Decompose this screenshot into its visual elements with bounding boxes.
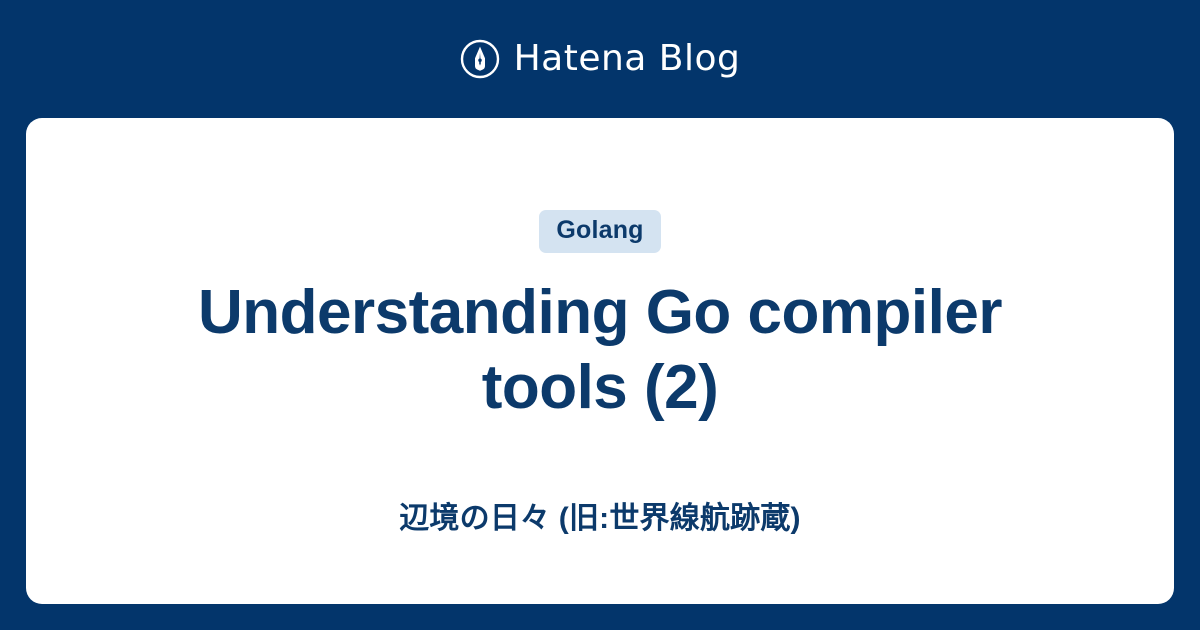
entry-card: Golang Understanding Go compiler tools (… xyxy=(26,118,1174,604)
entry-card-content: Golang Understanding Go compiler tools (… xyxy=(26,118,1174,604)
entry-title[interactable]: Understanding Go compiler tools (2) xyxy=(195,275,1005,425)
ogp-card-canvas: Hatena Blog Golang Understanding Go comp… xyxy=(0,0,1200,630)
brand-name-text: Hatena Blog xyxy=(514,41,741,77)
brand-header: Hatena Blog xyxy=(0,0,1200,118)
pen-nib-in-circle-icon xyxy=(460,39,500,79)
category-badge[interactable]: Golang xyxy=(539,210,660,253)
hatena-blog-logo[interactable]: Hatena Blog xyxy=(460,36,741,82)
blog-name[interactable]: 辺境の日々 (旧:世界線航跡蔵) xyxy=(399,501,801,537)
